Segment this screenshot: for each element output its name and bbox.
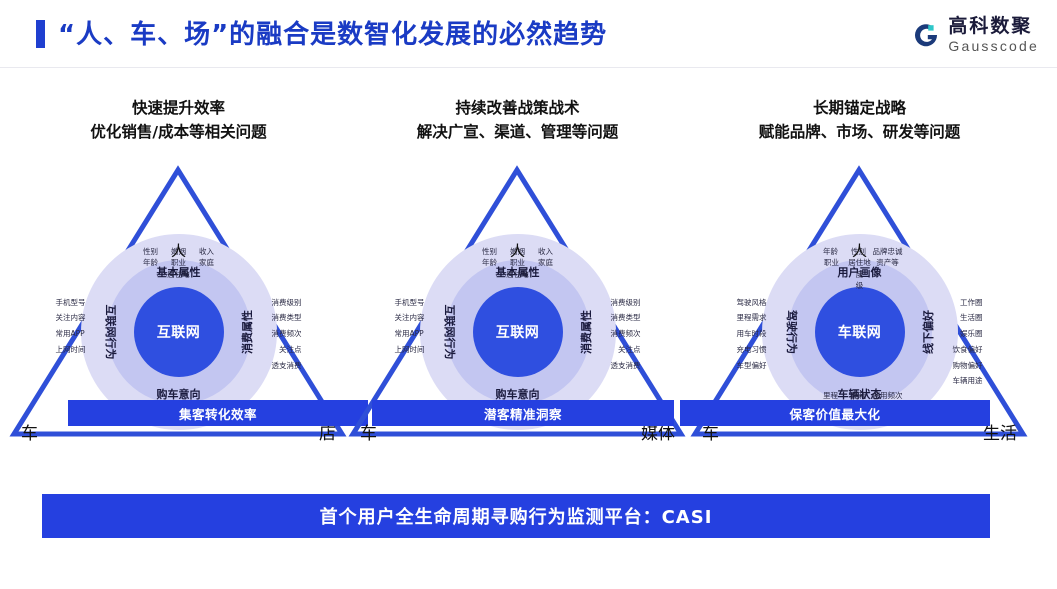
triangle-apex-label: 人	[690, 240, 1029, 261]
core-label: 互联网	[496, 322, 540, 342]
column-heading: 快速提升效率优化销售/成本等相关问题	[9, 96, 348, 144]
triangle-apex-label: 人	[9, 240, 348, 261]
ring-label-right: 消费属性	[578, 310, 594, 354]
ring-label-top: 基本属性	[157, 264, 201, 280]
column-heading-line2: 赋能品牌、市场、研发等问题	[690, 120, 1029, 144]
logo-text: 高科数聚 Gausscode	[948, 17, 1039, 53]
ring-core: 互联网	[134, 287, 224, 377]
core-label: 车联网	[838, 322, 882, 342]
logo-en-label: Gausscode	[948, 39, 1039, 53]
ring-label-left: 互联网行为	[103, 305, 119, 360]
ring-label-right: 消费属性	[239, 310, 255, 354]
outcome-band-1: 潜客精准洞察	[372, 400, 674, 426]
outcome-band-2: 保客价值最大化	[680, 400, 990, 426]
ring-core: 车联网	[815, 287, 905, 377]
triangle-apex-label: 人	[348, 240, 687, 261]
column-heading: 持续改善战策战术解决广宣、渠道、管理等问题	[348, 96, 687, 144]
ring-label-right: 线下偏好	[920, 310, 936, 354]
platform-footer-band: 首个用户全生命周期寻购行为监测平台：CASI	[42, 494, 990, 538]
column-heading-line1: 持续改善战策战术	[348, 96, 687, 120]
core-label: 互联网	[157, 322, 201, 342]
column-heading-line1: 快速提升效率	[9, 96, 348, 120]
ring-label-left: 驾驶行为	[784, 310, 800, 354]
page-header: “人、车、场”的融合是数智化发展的必然趋势 高科数聚 Gausscode	[0, 0, 1057, 68]
title-accent-bar	[36, 20, 45, 48]
ring-label-left: 互联网行为	[442, 305, 458, 360]
scenario-column-1: 持续改善战策战术解决广宣、渠道、管理等问题互联网基本属性购车意向互联网行为消费属…	[348, 96, 687, 448]
brand-logo: 高科数聚 Gausscode	[911, 14, 1039, 56]
scenario-column-0: 快速提升效率优化销售/成本等相关问题互联网基本属性购车意向互联网行为消费属性性别…	[9, 96, 348, 448]
outcome-band-0: 集客转化效率	[68, 400, 368, 426]
ring-core: 互联网	[473, 287, 563, 377]
header-divider	[0, 67, 1057, 68]
column-heading-line1: 长期锚定战略	[690, 96, 1029, 120]
ring-label-top: 用户画像	[838, 264, 882, 280]
column-heading-line2: 解决广宣、渠道、管理等问题	[348, 120, 687, 144]
gausscode-logo-icon	[911, 20, 941, 50]
triangle-corner-left-label: 车	[21, 419, 38, 444]
scenario-column-2: 长期锚定战略赋能品牌、市场、研发等问题车联网用户画像车辆状态驾驶行为线下偏好年龄…	[690, 96, 1029, 448]
column-heading-line2: 优化销售/成本等相关问题	[9, 120, 348, 144]
page-title: “人、车、场”的融合是数智化发展的必然趋势	[58, 14, 607, 51]
ring-label-top: 基本属性	[496, 264, 540, 280]
logo-cn-label: 高科数聚	[948, 17, 1039, 36]
column-heading: 长期锚定战略赋能品牌、市场、研发等问题	[690, 96, 1029, 144]
